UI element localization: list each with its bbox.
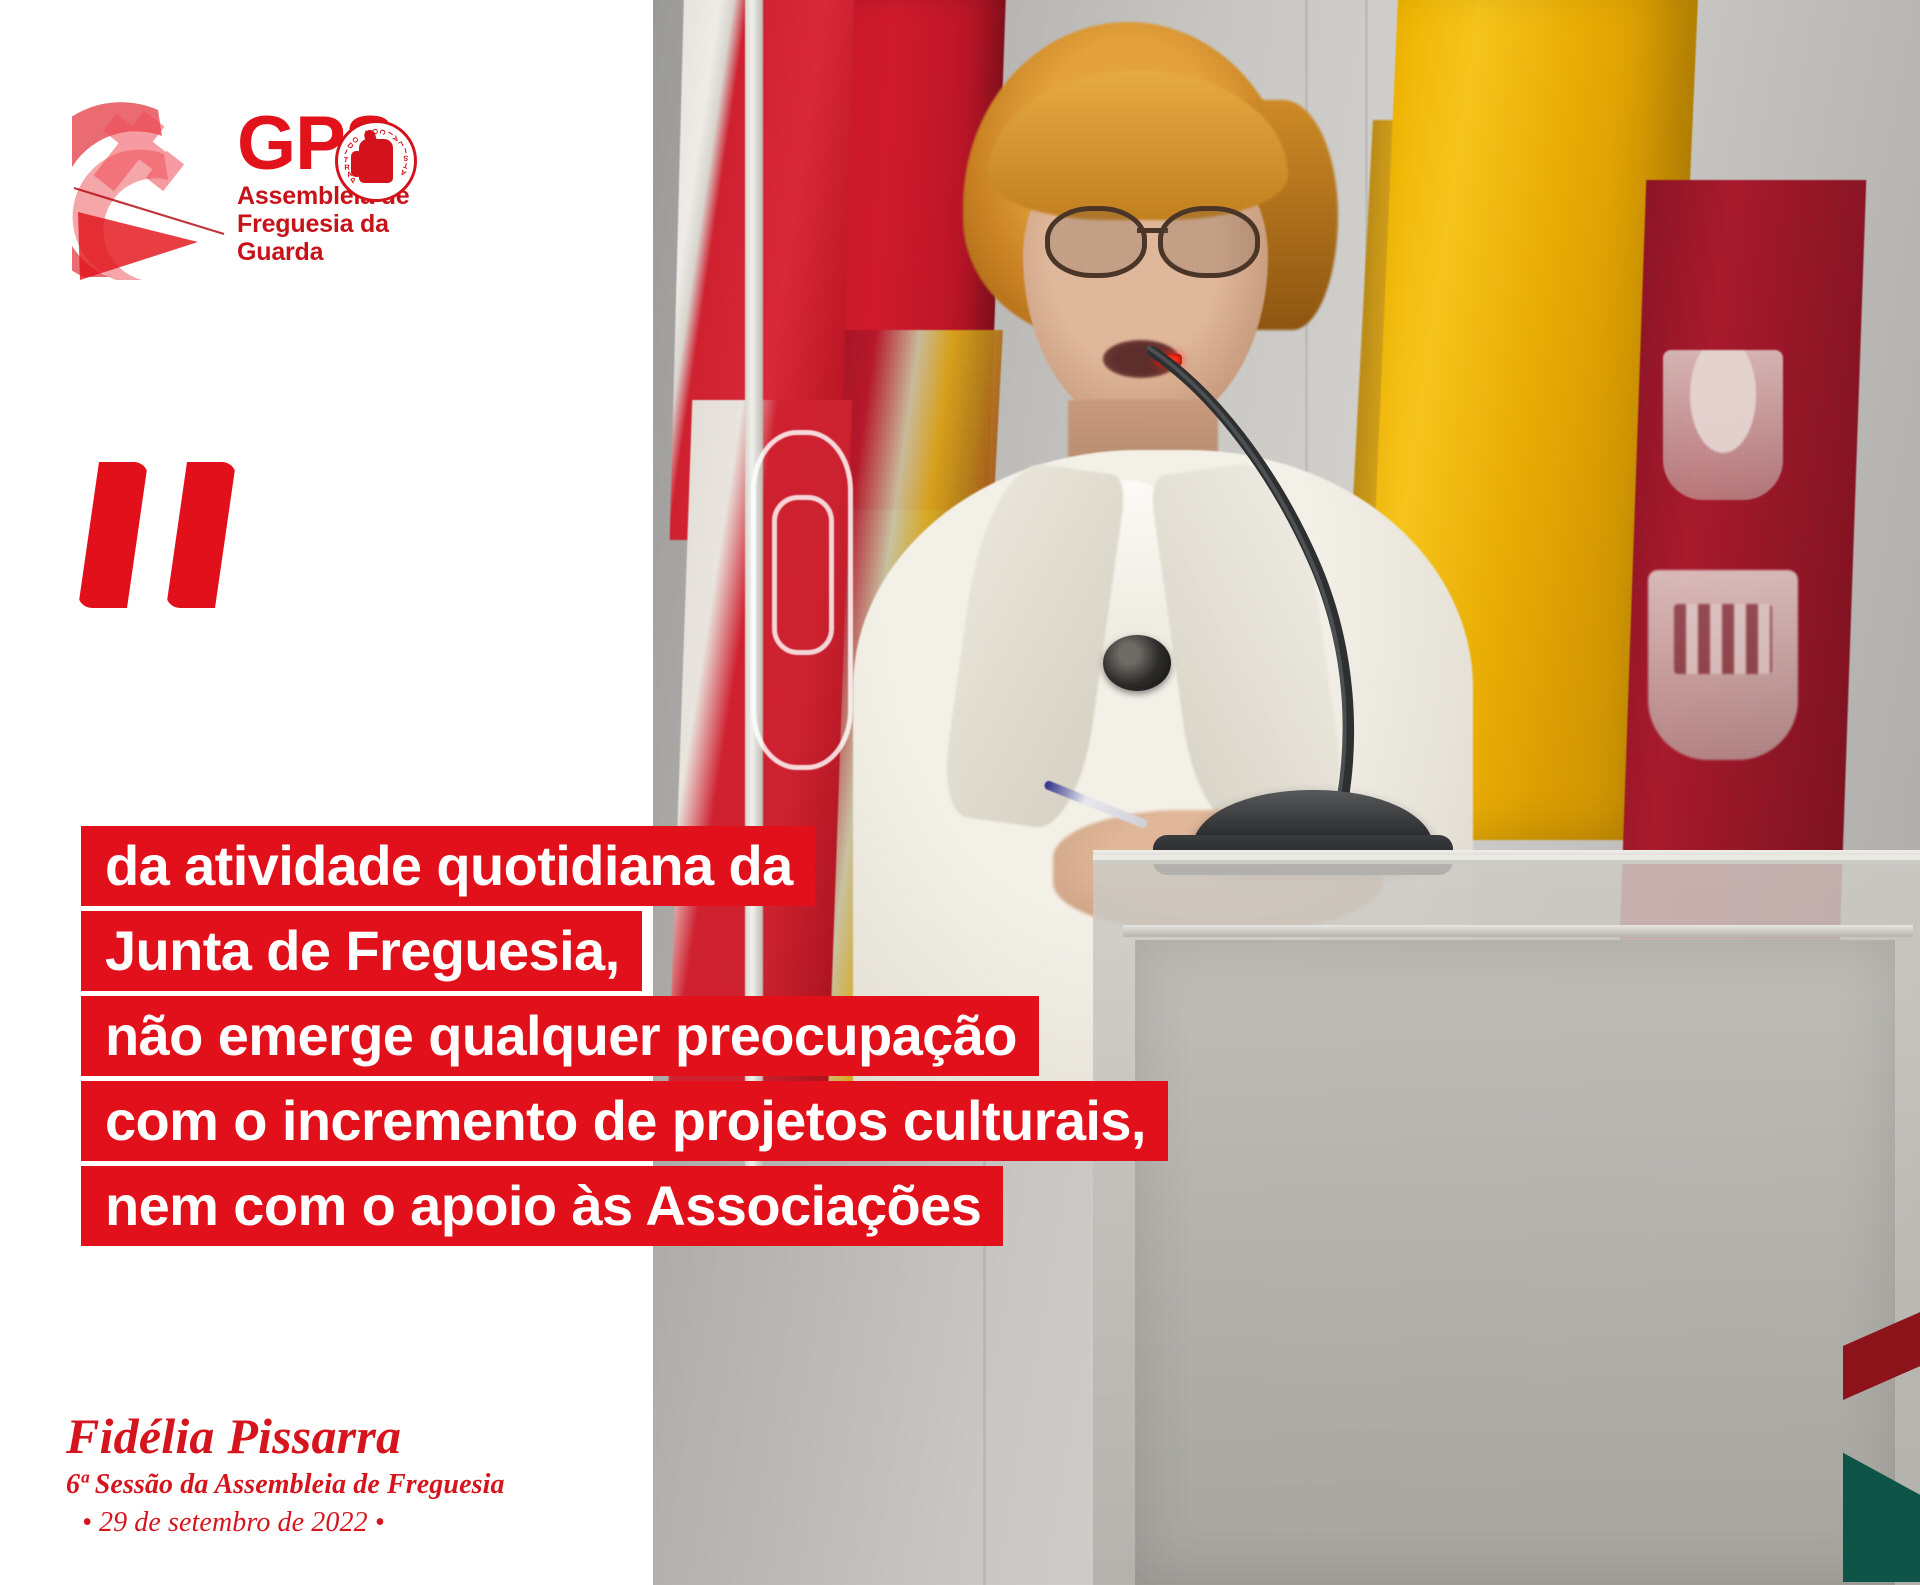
quote-line: nem com o apoio às Associações: [81, 1166, 1003, 1246]
partido-socialista-seal-icon: PARTIDO SOCIALISTA: [335, 120, 417, 202]
quote-line: não emerge qualquer preocupação: [81, 996, 1039, 1076]
gps-logo-mark: [72, 92, 252, 282]
quote-line: Junta de Freguesia,: [81, 911, 642, 991]
flag-crest-lower: [1648, 570, 1798, 760]
microphone-led: [1156, 354, 1182, 366]
seal-ring-text: PARTIDO SOCIALISTA: [336, 121, 416, 201]
crimson-flag: [1620, 180, 1867, 940]
quote-line: com o incremento de projetos culturais,: [81, 1081, 1168, 1161]
quote-line: da atividade quotidiana da: [81, 826, 815, 906]
quote-text-block: da atividade quotidiana daJunta de Fregu…: [0, 826, 1168, 1251]
glasses-lens-left: [1045, 206, 1147, 278]
gps-logo[interactable]: GPS Assembleia de Freguesia da Guarda PA…: [72, 92, 452, 292]
logo-chevron-red: [1843, 1280, 1920, 1400]
gps-subtitle-line2: Freguesia da Guarda: [237, 210, 452, 266]
podium-panel: [1135, 940, 1895, 1585]
quote-stroke-1: [78, 462, 148, 608]
glasses-lens-right: [1158, 206, 1260, 278]
quote-card: GPS Assembleia de Freguesia da Guarda PA…: [0, 0, 1920, 1585]
glasses-icon: [1045, 206, 1260, 268]
podium-lip: [1123, 925, 1913, 937]
open-quote-icon: [78, 462, 278, 612]
attribution-block: Fidélia Pissarra 6ª Sessão da Assembleia…: [66, 1409, 505, 1542]
event-name: 6ª Sessão da Assembleia de Freguesia: [66, 1467, 505, 1503]
brooch: [1103, 635, 1171, 691]
podium-hexagon-logo: [1843, 1280, 1920, 1580]
quote-stroke-2: [166, 462, 236, 608]
speaker-photo: [653, 0, 1920, 1585]
event-date: • 29 de setembro de 2022 •: [66, 1505, 505, 1541]
logo-chevron-green: [1843, 1392, 1920, 1582]
flag-crest-upper: [1663, 350, 1783, 500]
speaker-name: Fidélia Pissarra: [66, 1409, 505, 1463]
